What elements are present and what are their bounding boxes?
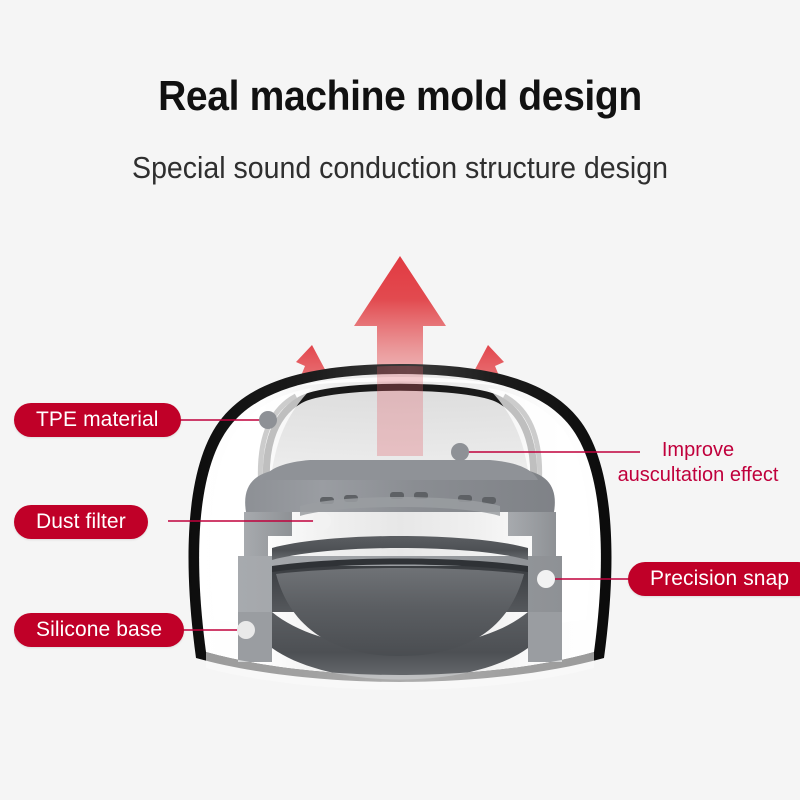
core-right-leg [528,612,562,662]
callout-label-improve-auscultation-effect: Improve auscultation effect [598,438,798,488]
callout-label-silicone-base[interactable]: Silicone base [14,613,184,647]
infographic-canvas: Real machine mold design Special sound c… [0,0,800,800]
earbud-core-assembly [206,460,594,690]
arrow-translucency-overlay [377,366,423,456]
callout-label-dust-filter[interactable]: Dust filter [14,505,148,539]
improve-line-1: Improve [598,438,798,463]
core-collar-top-face [262,460,538,480]
callout-label-precision-snap[interactable]: Precision snap [628,562,800,596]
marker-dust-filter [313,512,331,530]
improve-line-2: auscultation effect [598,463,798,488]
marker-silicone-base [237,621,255,639]
marker-improve-effect [451,443,469,461]
earbud-cross-section-illustration [0,0,800,800]
marker-precision-snap [537,570,555,588]
marker-tpe-material [259,411,277,429]
callout-label-tpe-material[interactable]: TPE material [14,403,181,437]
